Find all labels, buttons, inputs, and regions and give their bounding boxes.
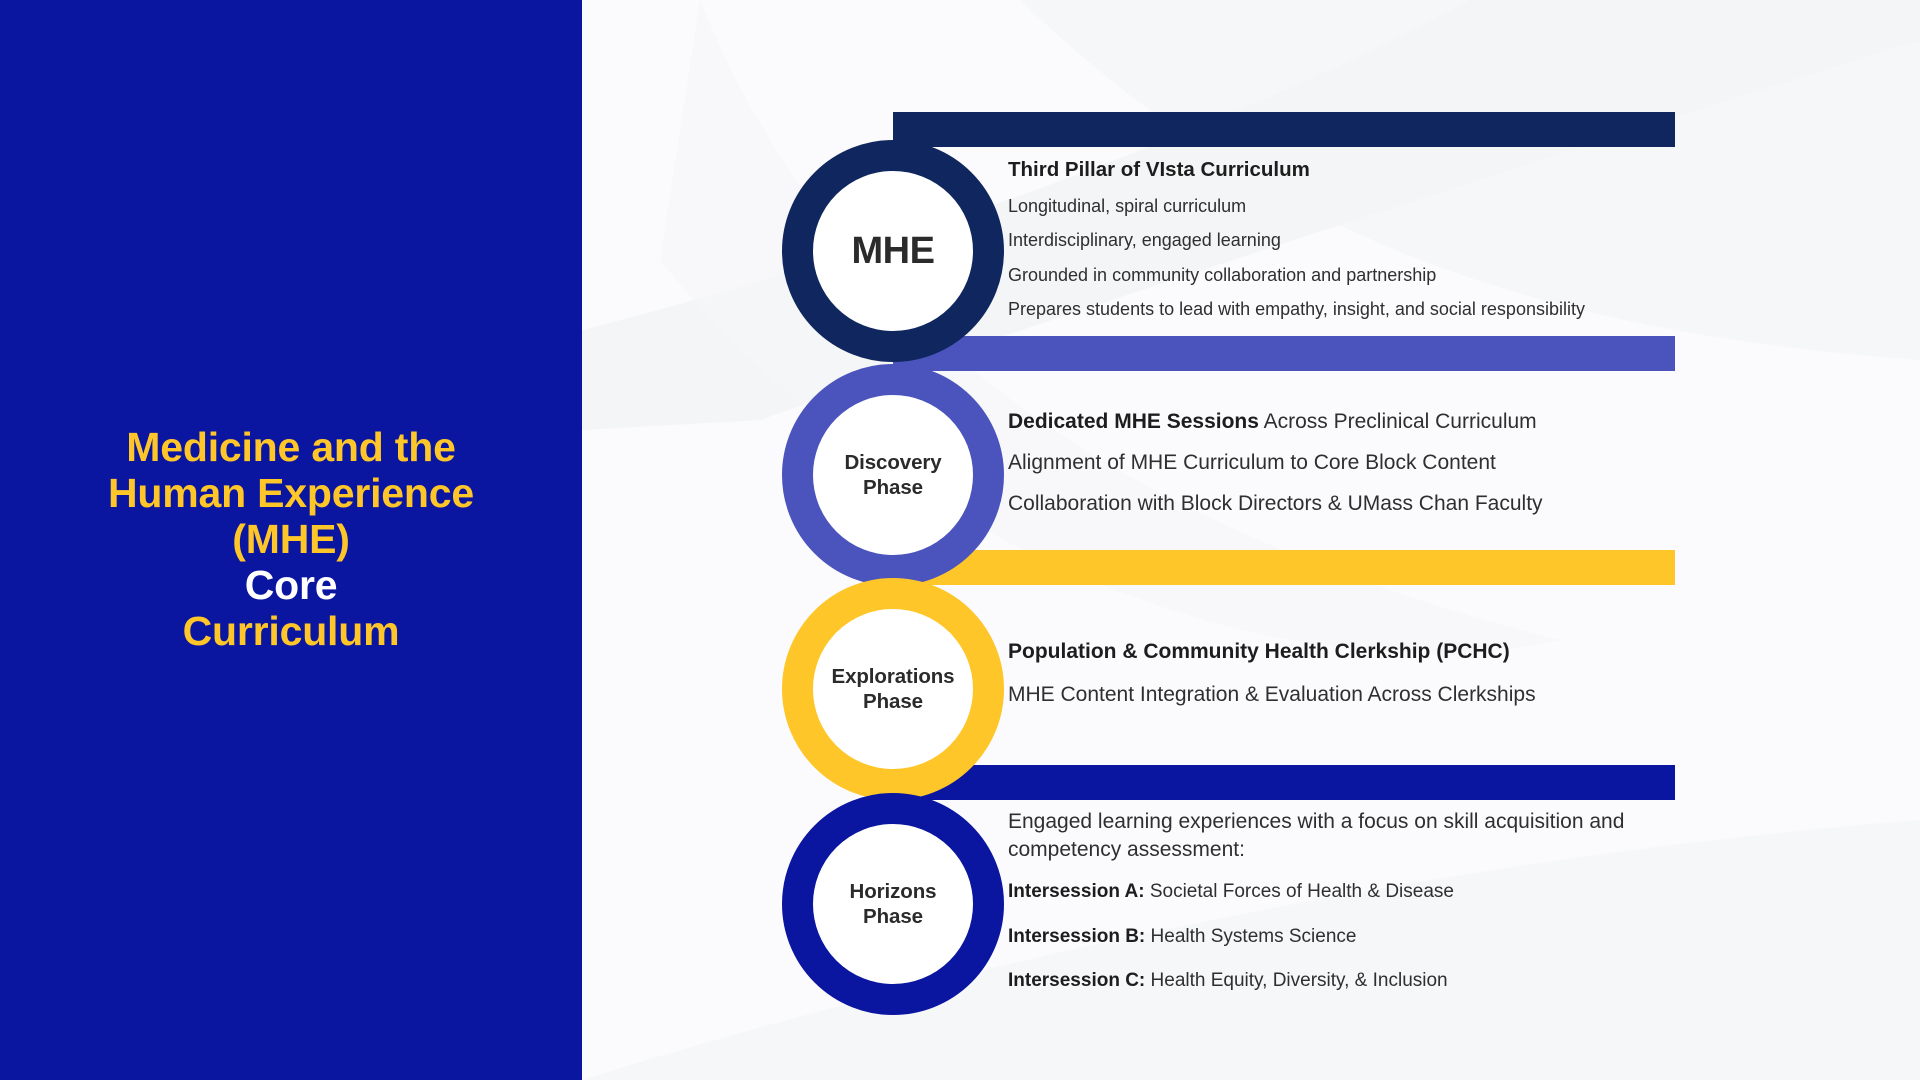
row-item-bold: Intersession B: [1008,926,1145,947]
page-title: Medicine and the Human Experience (MHE) … [31,425,551,655]
row-item: Intersession A: Societal Forces of Healt… [1008,878,1708,906]
title-line-1: Medicine and the [31,425,551,471]
row-heading-mhe: Third Pillar of VIsta Curriculum [1008,158,1698,182]
circle-badge-horizons[interactable]: Horizons Phase [782,793,1004,1015]
row-item: Alignment of MHE Curriculum to Core Bloc… [1008,447,1708,478]
row-item-rest: Across Preclinical Curriculum [1259,410,1537,433]
row-item: Prepares students to lead with empathy, … [1008,296,1698,322]
row-bar-explorations [893,550,1675,585]
row-item-bold: Intersession C: [1008,970,1145,991]
row-item: Interdisciplinary, engaged learning [1008,227,1698,253]
circle-badge-mhe[interactable]: MHE [782,140,1004,362]
row-item: Longitudinal, spiral curriculum [1008,193,1698,219]
circle-label-mhe: MHE [852,228,935,274]
row-bar-discovery [893,336,1675,371]
title-line-3: (MHE) [31,517,551,563]
row-item: Population & Community Health Clerkship … [1008,636,1708,667]
circle-badge-discovery[interactable]: Discovery Phase [782,364,1004,586]
row-item: Collaboration with Block Directors & UMa… [1008,488,1708,519]
circle-label-line-1: Horizons [850,880,937,903]
row-item-rest: Health Equity, Diversity, & Inclusion [1145,970,1447,991]
slide: Medicine and the Human Experience (MHE) … [0,0,1920,1080]
circle-label-line-2: Phase [863,690,923,713]
row-item: Intersession B: Health Systems Science [1008,923,1708,951]
row-item-rest: Alignment of MHE Curriculum to Core Bloc… [1008,451,1496,474]
row-item-rest: Societal Forces of Health & Disease [1145,881,1454,902]
left-title-panel: Medicine and the Human Experience (MHE) … [0,0,582,1080]
row-item: MHE Content Integration & Evaluation Acr… [1008,679,1708,710]
circle-label-line-2: Phase [863,476,923,499]
row-item: Dedicated MHE Sessions Across Preclinica… [1008,406,1708,437]
row-item-bold: Population & Community Health Clerkship … [1008,640,1510,663]
row-bar-horizons [893,765,1675,800]
row-item-bold: Intersession A: [1008,881,1145,902]
circle-label-explorations: Explorations Phase [832,664,955,714]
circle-label-discovery: Discovery Phase [844,450,941,500]
row-content-explorations: Population & Community Health Clerkship … [1008,636,1708,722]
row-content-mhe: Third Pillar of VIsta Curriculum Longitu… [1008,158,1698,330]
circle-badge-explorations[interactable]: Explorations Phase [782,578,1004,800]
circle-label-line-1: Explorations [832,665,955,688]
row-content-horizons: Engaged learning experiences with a focu… [1008,808,1708,1012]
circle-label-line-1: Discovery [844,451,941,474]
title-line-5: Curriculum [31,609,551,655]
row-content-discovery: Dedicated MHE Sessions Across Preclinica… [1008,406,1708,529]
row-item: Intersession C: Health Equity, Diversity… [1008,967,1708,995]
row-item-bold: Dedicated MHE Sessions [1008,410,1259,433]
circle-label-line-2: Phase [863,905,923,928]
row-lead-horizons: Engaged learning experiences with a focu… [1008,808,1708,864]
row-item-rest: Health Systems Science [1145,926,1356,947]
row-bar-mhe [893,112,1675,147]
title-line-2: Human Experience [31,471,551,517]
row-item-rest: Collaboration with Block Directors & UMa… [1008,492,1543,515]
title-line-4: Core [31,563,551,609]
circle-label-horizons: Horizons Phase [850,879,937,929]
row-item-rest: MHE Content Integration & Evaluation Acr… [1008,683,1536,706]
row-item: Grounded in community collaboration and … [1008,262,1698,288]
